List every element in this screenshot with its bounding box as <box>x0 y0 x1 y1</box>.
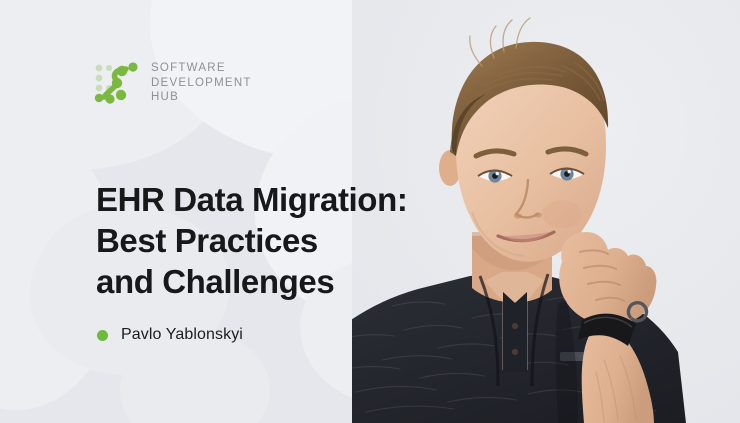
brand-logo[interactable]: SOFTWARE DEVELOPMENT HUB <box>92 57 252 109</box>
page-title-line-3: and Challenges <box>96 261 407 302</box>
logo-line-1: SOFTWARE <box>151 62 226 74</box>
page-title-line-2: Best Practices <box>96 220 407 261</box>
logo-line-3: HUB <box>151 91 179 103</box>
page-title: EHR Data Migration: Best Practices and C… <box>96 179 407 302</box>
software-development-hub-node-mark-icon <box>92 57 142 109</box>
article-cover-banner: SOFTWARE DEVELOPMENT HUB EHR Data Migrat… <box>0 0 740 423</box>
logo-line-2: DEVELOPMENT <box>151 77 252 89</box>
author-name: Pavlo Yablonskyi <box>121 326 243 344</box>
page-title-line-1: EHR Data Migration: <box>96 179 407 220</box>
brand-logo-wordmark: SOFTWARE DEVELOPMENT HUB <box>151 61 252 105</box>
speaker-photo <box>352 0 740 423</box>
bullet-dot-icon <box>97 330 108 341</box>
author-byline: Pavlo Yablonskyi <box>97 326 243 344</box>
